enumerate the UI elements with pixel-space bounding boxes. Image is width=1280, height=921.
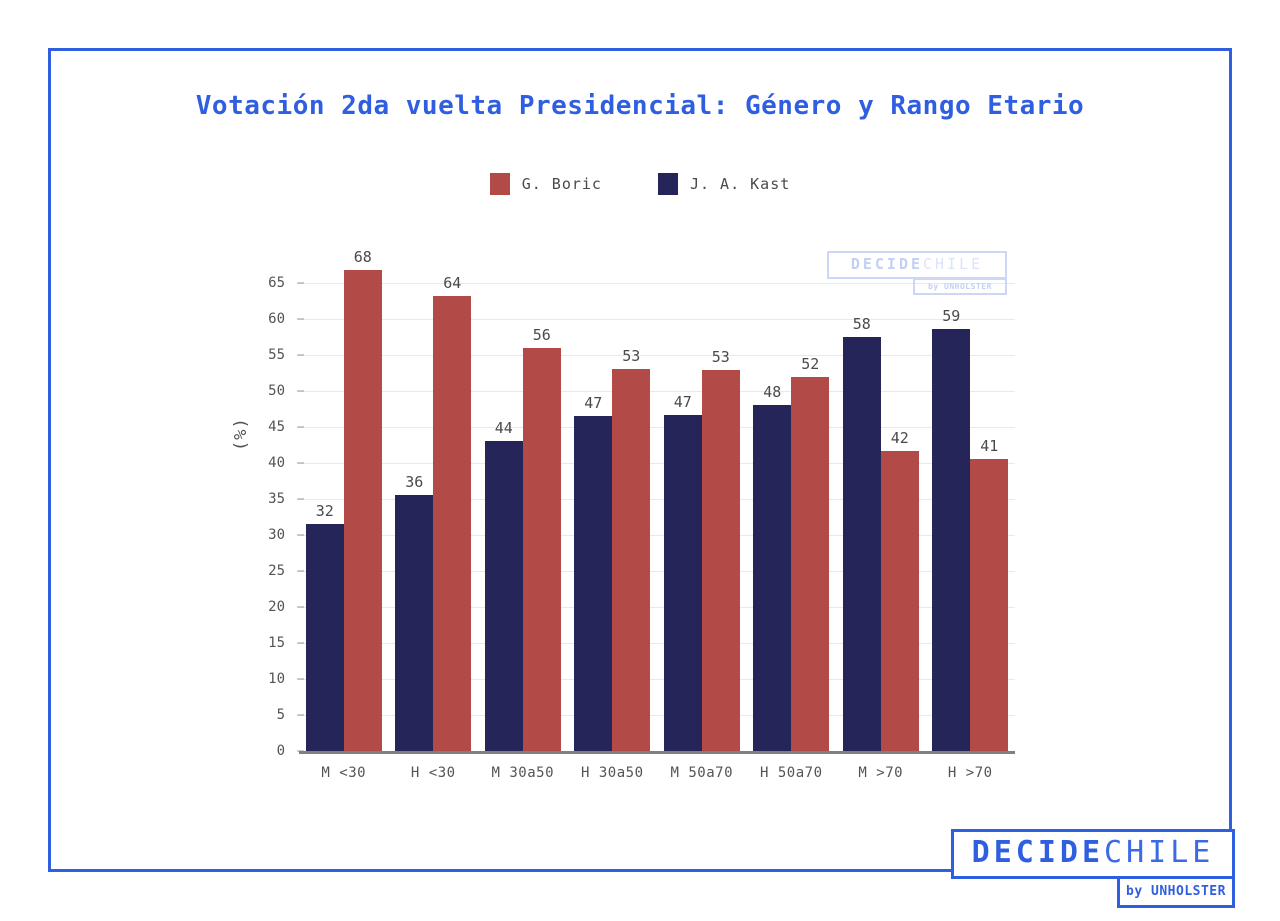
x-tick-label: M 50a70 xyxy=(670,765,733,781)
y-tick-label: 10 xyxy=(268,671,285,687)
y-tick-label: 30 xyxy=(268,527,285,543)
watermark-bold-text: DECIDE xyxy=(851,255,923,273)
x-tick-label: H 50a70 xyxy=(760,765,823,781)
bar[interactable]: 32 xyxy=(306,524,344,751)
logo-wordmark: DECIDECHILE xyxy=(951,829,1235,879)
bar[interactable]: 42 xyxy=(881,451,919,751)
y-tick-label: 20 xyxy=(268,599,285,615)
legend-item-boric[interactable]: G. Boric xyxy=(490,173,602,195)
decidechile-logo: DECIDECHILE by UNHOLSTER xyxy=(951,829,1235,908)
bar[interactable]: 59 xyxy=(932,329,970,751)
y-axis-label: (%) xyxy=(231,417,251,451)
chart-title: Votación 2da vuelta Presidencial: Género… xyxy=(51,91,1229,121)
logo-bold-text: DECIDE xyxy=(972,835,1104,870)
bar[interactable]: 53 xyxy=(612,369,650,751)
logo-light-text: CHILE xyxy=(1104,835,1214,870)
bar-value-label: 53 xyxy=(622,347,640,365)
y-tick-label: 5 xyxy=(277,707,285,723)
x-tick-label: M 30a50 xyxy=(491,765,554,781)
bar[interactable]: 56 xyxy=(523,348,561,751)
watermark: DECIDECHILE by UNHOLSTER xyxy=(827,251,1007,295)
bar-value-label: 59 xyxy=(942,307,960,325)
legend-swatch-boric xyxy=(490,173,510,195)
x-tick-label: M <30 xyxy=(321,765,366,781)
x-tick-label: M >70 xyxy=(858,765,903,781)
chart-legend: G. Boric J. A. Kast xyxy=(51,173,1229,195)
bar[interactable]: 64 xyxy=(433,296,471,751)
y-tick-label: 35 xyxy=(268,491,285,507)
bar-value-label: 44 xyxy=(495,419,513,437)
bar-value-label: 47 xyxy=(584,394,602,412)
y-tick-label: 65 xyxy=(268,275,285,291)
y-tick-label: 50 xyxy=(268,383,285,399)
bar-value-label: 32 xyxy=(316,502,334,520)
y-tick-label: 0 xyxy=(277,743,285,759)
bar-value-label: 47 xyxy=(674,393,692,411)
y-tick-label: 45 xyxy=(268,419,285,435)
watermark-light-text: CHILE xyxy=(923,255,983,273)
bar[interactable]: 68 xyxy=(344,270,382,751)
legend-swatch-kast xyxy=(658,173,678,195)
y-tick-label: 15 xyxy=(268,635,285,651)
plot-area: 05101520253035404550556065 3268366444564… xyxy=(299,261,1015,751)
bar[interactable]: 44 xyxy=(485,441,523,751)
bar[interactable]: 52 xyxy=(791,377,829,751)
bar-value-label: 48 xyxy=(763,383,781,401)
x-tick-label: H <30 xyxy=(411,765,456,781)
bar-value-label: 58 xyxy=(853,315,871,333)
y-tick-label: 25 xyxy=(268,563,285,579)
chart-frame: Votación 2da vuelta Presidencial: Género… xyxy=(48,48,1232,872)
y-tick-label: 60 xyxy=(268,311,285,327)
bar-series-group: 32683664445647534753485258425941 xyxy=(299,261,1015,751)
legend-item-kast[interactable]: J. A. Kast xyxy=(658,173,790,195)
bar-value-label: 64 xyxy=(443,274,461,292)
y-tick-label: 55 xyxy=(268,347,285,363)
bar-value-label: 52 xyxy=(801,355,819,373)
bar[interactable]: 48 xyxy=(753,405,791,751)
y-tick-label: 40 xyxy=(268,455,285,471)
watermark-subtitle: by UNHOLSTER xyxy=(913,278,1007,295)
bar[interactable]: 36 xyxy=(395,495,433,751)
bar[interactable]: 53 xyxy=(702,370,740,751)
legend-label-boric: G. Boric xyxy=(522,175,602,193)
watermark-wordmark: DECIDECHILE xyxy=(827,251,1007,279)
bar[interactable]: 47 xyxy=(574,416,612,751)
bar-value-label: 56 xyxy=(533,326,551,344)
bar-value-label: 41 xyxy=(980,437,998,455)
logo-subtitle: by UNHOLSTER xyxy=(1117,876,1235,908)
bar-value-label: 68 xyxy=(354,248,372,266)
bar-value-label: 53 xyxy=(712,348,730,366)
x-tick-label: H 30a50 xyxy=(581,765,644,781)
bar[interactable]: 58 xyxy=(843,337,881,751)
x-tick-label: H >70 xyxy=(948,765,993,781)
bar-value-label: 42 xyxy=(891,429,909,447)
x-axis-ticks: M <30H <30M 30a50H 30a50M 50a70H 50a70M … xyxy=(299,751,1015,791)
bar-value-label: 36 xyxy=(405,473,423,491)
bar[interactable]: 47 xyxy=(664,415,702,752)
bar[interactable]: 41 xyxy=(970,459,1008,751)
legend-label-kast: J. A. Kast xyxy=(690,175,790,193)
